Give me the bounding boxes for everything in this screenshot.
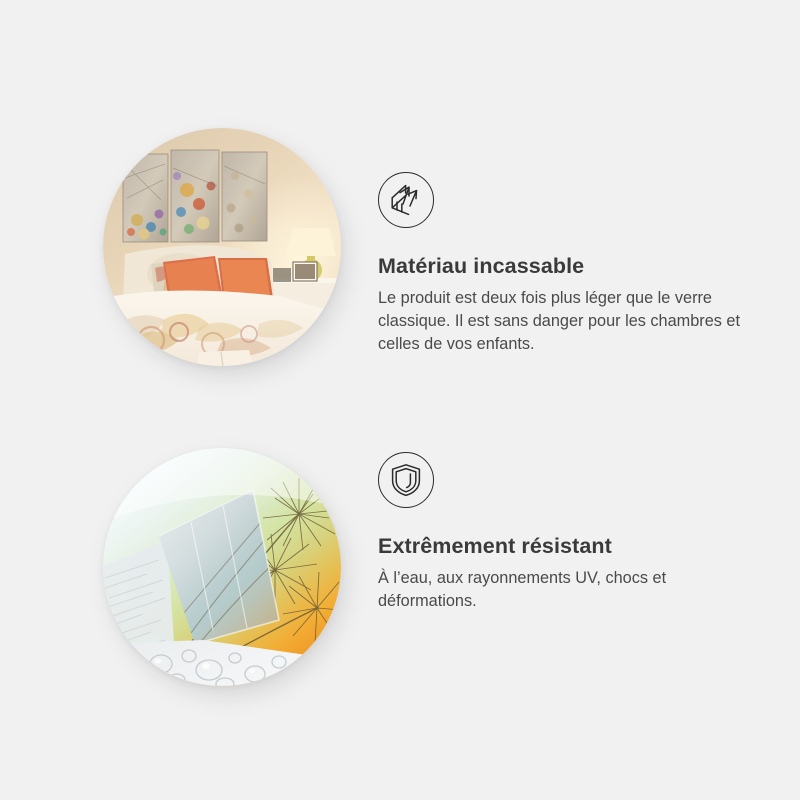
feature-title: Extrêmement résistant [378, 534, 750, 560]
feature-image-circle [103, 128, 341, 366]
feature-text-column: Extrêmement résistant À l’eau, aux rayon… [378, 430, 750, 591]
bedroom-triptych-canvas-photo [103, 128, 341, 366]
shield-icon [378, 452, 434, 508]
feature-image-circle [103, 448, 341, 686]
feature-title: Matériau incassable [378, 254, 750, 280]
product-feature-page: Matériau incassable Le produit est deux … [0, 0, 800, 800]
dandelion-glass-panel-photo [103, 448, 341, 686]
flexible-panel-arrows-icon [378, 172, 434, 228]
feature-block: Matériau incassable Le produit est deux … [0, 110, 800, 400]
feature-block: Extrêmement résistant À l’eau, aux rayon… [0, 430, 800, 720]
feature-text-column: Matériau incassable Le produit est deux … [378, 110, 750, 295]
feature-description: À l’eau, aux rayonnements UV, chocs et d… [378, 567, 746, 614]
feature-description: Le produit est deux fois plus léger que … [378, 287, 746, 357]
